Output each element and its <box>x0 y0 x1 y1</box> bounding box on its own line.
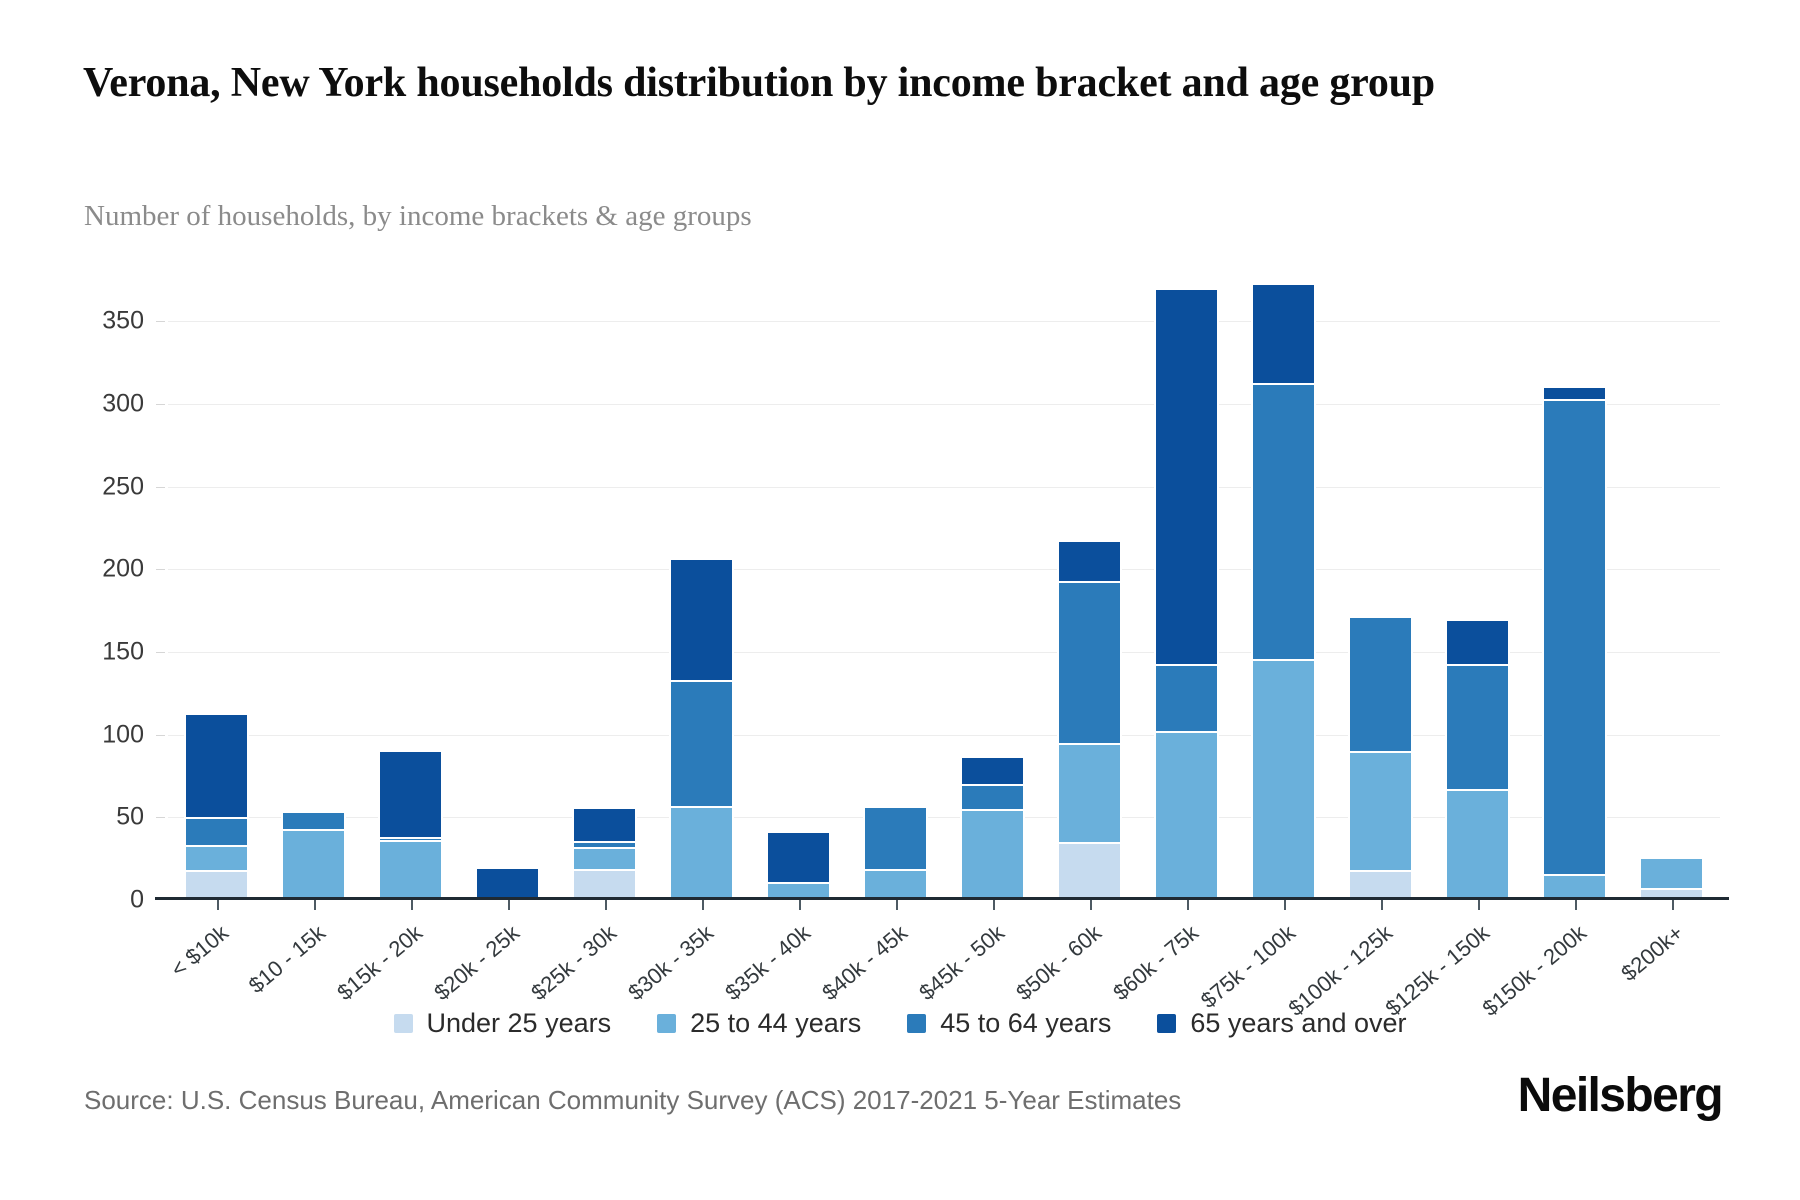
y-axis-tick-label: 150 <box>102 638 144 667</box>
bar-segment[interactable] <box>1445 789 1509 900</box>
bar-series-container: < $10k$10 - 15k$15k - 20k$20k - 25k$25k … <box>168 280 1720 900</box>
bar-stack[interactable] <box>378 280 442 900</box>
bar-group[interactable]: $30k - 35k <box>653 280 750 900</box>
bar-group[interactable]: $125k - 150k <box>1429 280 1526 900</box>
chart-subtitle: Number of households, by income brackets… <box>84 200 752 233</box>
bar-segment[interactable] <box>572 841 636 848</box>
x-tick-mark <box>799 900 801 910</box>
y-axis-tick-label: 0 <box>130 886 144 915</box>
bar-segment[interactable] <box>863 806 927 869</box>
legend-label: 25 to 44 years <box>690 1008 861 1039</box>
bar-segment[interactable] <box>863 869 927 900</box>
bar-group[interactable]: $25k - 30k <box>556 280 653 900</box>
bar-segment[interactable] <box>1445 619 1509 664</box>
x-tick-mark <box>896 900 898 910</box>
x-axis-tick-label: < $10k <box>165 920 233 983</box>
bar-segment[interactable] <box>281 811 345 829</box>
bar-group[interactable]: < $10k <box>168 280 265 900</box>
x-axis-tick-label: $30k - 35k <box>623 920 718 1006</box>
plot-area: 050100150200250300350 < $10k$10 - 15k$15… <box>168 280 1720 900</box>
x-tick-mark <box>1672 900 1674 910</box>
bar-stack[interactable] <box>960 280 1024 900</box>
legend-item[interactable]: 25 to 44 years <box>657 1008 861 1039</box>
legend-swatch-icon <box>394 1014 413 1033</box>
y-axis-tick-label: 200 <box>102 555 144 584</box>
y-axis-tick-label: 300 <box>102 390 144 419</box>
x-axis-tick-label: $50k - 60k <box>1011 920 1106 1006</box>
x-tick-mark <box>1381 900 1383 910</box>
bar-segment[interactable] <box>1057 581 1121 743</box>
bar-group[interactable]: $200k+ <box>1623 280 1720 900</box>
legend-label: 65 years and over <box>1190 1008 1406 1039</box>
bar-segment[interactable] <box>572 807 636 840</box>
x-axis-tick-label: $60k - 75k <box>1108 920 1203 1006</box>
x-axis-tick-label: $15k - 20k <box>332 920 427 1006</box>
bar-segment[interactable] <box>1542 386 1606 399</box>
y-tick-mark <box>156 569 165 570</box>
bar-segment[interactable] <box>1251 659 1315 900</box>
bar-segment[interactable] <box>960 809 1024 900</box>
x-axis-tick-label: $40k - 45k <box>817 920 912 1006</box>
bar-segment[interactable] <box>1348 616 1412 752</box>
y-tick-mark <box>156 652 165 653</box>
bar-group[interactable]: $75k - 100k <box>1235 280 1332 900</box>
bar-segment[interactable] <box>184 713 248 817</box>
bar-stack[interactable] <box>281 280 345 900</box>
bar-stack[interactable] <box>766 280 830 900</box>
bar-segment[interactable] <box>960 784 1024 809</box>
x-tick-mark <box>1187 900 1189 910</box>
x-tick-mark <box>1090 900 1092 910</box>
bar-stack[interactable] <box>863 280 927 900</box>
y-axis-tick-label: 50 <box>116 803 144 832</box>
bar-group[interactable]: $45k - 50k <box>944 280 1041 900</box>
bar-group[interactable]: $20k - 25k <box>459 280 556 900</box>
x-axis-tick-label: $100k - 125k <box>1283 920 1397 1022</box>
x-tick-mark <box>702 900 704 910</box>
x-tick-mark <box>1478 900 1480 910</box>
bar-group[interactable]: $40k - 45k <box>847 280 944 900</box>
bar-stack[interactable] <box>669 280 733 900</box>
x-tick-mark <box>314 900 316 910</box>
y-axis-tick-label: 250 <box>102 472 144 501</box>
x-tick-mark <box>217 900 219 910</box>
x-axis-tick-label: $25k - 30k <box>526 920 621 1006</box>
bar-stack[interactable] <box>572 280 636 900</box>
bar-group[interactable]: $150k - 200k <box>1526 280 1623 900</box>
bar-segment[interactable] <box>669 558 733 680</box>
bar-segment[interactable] <box>1251 383 1315 659</box>
brand-logo: Neilsberg <box>1518 1068 1722 1123</box>
chart-card: Verona, New York households distribution… <box>0 0 1800 1200</box>
bar-stack[interactable] <box>475 280 539 900</box>
bar-segment[interactable] <box>1057 842 1121 900</box>
x-axis-tick-label: $45k - 50k <box>914 920 1009 1006</box>
bar-segment[interactable] <box>1154 288 1218 663</box>
bar-segment[interactable] <box>572 869 636 900</box>
bar-stack[interactable] <box>1639 280 1703 900</box>
legend-swatch-icon <box>907 1014 926 1033</box>
bar-stack[interactable] <box>184 280 248 900</box>
bar-segment[interactable] <box>766 831 830 882</box>
bar-group[interactable]: $35k - 40k <box>750 280 847 900</box>
bar-segment[interactable] <box>1154 731 1218 900</box>
bar-group[interactable]: $15k - 20k <box>362 280 459 900</box>
bar-segment[interactable] <box>1057 743 1121 842</box>
bar-segment[interactable] <box>669 806 733 900</box>
x-tick-mark <box>508 900 510 910</box>
legend-item[interactable]: 65 years and over <box>1157 1008 1406 1039</box>
bar-stack[interactable] <box>1348 280 1412 900</box>
y-tick-mark <box>156 487 165 488</box>
bar-group[interactable]: $60k - 75k <box>1138 280 1235 900</box>
y-axis-tick-label: 350 <box>102 307 144 336</box>
bar-stack[interactable] <box>1542 280 1606 900</box>
legend-swatch-icon <box>1157 1014 1176 1033</box>
bar-stack[interactable] <box>1057 280 1121 900</box>
x-tick-mark <box>993 900 995 910</box>
legend-swatch-icon <box>657 1014 676 1033</box>
y-tick-mark <box>156 817 165 818</box>
bar-segment[interactable] <box>572 847 636 868</box>
x-axis-tick-label: $20k - 25k <box>429 920 524 1006</box>
x-axis-line <box>155 897 1729 900</box>
source-note: Source: U.S. Census Bureau, American Com… <box>84 1085 1181 1116</box>
bar-segment[interactable] <box>1639 857 1703 888</box>
x-tick-mark <box>411 900 413 910</box>
bar-segment[interactable] <box>184 870 248 900</box>
x-tick-mark <box>605 900 607 910</box>
bar-segment[interactable] <box>1542 399 1606 874</box>
legend-label: Under 25 years <box>427 1008 612 1039</box>
bar-segment[interactable] <box>1251 283 1315 382</box>
bar-segment[interactable] <box>184 817 248 845</box>
x-axis-tick-label: $125k - 150k <box>1380 920 1494 1022</box>
bar-segment[interactable] <box>1348 870 1412 900</box>
bar-segment[interactable] <box>1445 664 1509 790</box>
x-axis-tick-label: $10 - 15k <box>243 920 330 999</box>
x-tick-mark <box>1284 900 1286 910</box>
x-axis-tick-label: $150k - 200k <box>1477 920 1591 1022</box>
bar-segment[interactable] <box>184 845 248 870</box>
page-title: Verona, New York households distribution… <box>83 55 1723 113</box>
bar-segment[interactable] <box>378 750 442 838</box>
x-axis-tick-label: $200k+ <box>1616 920 1688 987</box>
bar-group[interactable]: $50k - 60k <box>1041 280 1138 900</box>
y-tick-mark <box>156 321 165 322</box>
bar-segment[interactable] <box>960 756 1024 784</box>
bar-segment[interactable] <box>1057 540 1121 581</box>
bar-stack[interactable] <box>1154 280 1218 900</box>
bar-stack[interactable] <box>1251 280 1315 900</box>
legend-label: 45 to 64 years <box>940 1008 1111 1039</box>
bar-stack[interactable] <box>1445 280 1509 900</box>
bar-segment[interactable] <box>475 867 539 900</box>
bar-segment[interactable] <box>281 829 345 900</box>
chart-legend: Under 25 years25 to 44 years45 to 64 yea… <box>0 1008 1800 1039</box>
x-axis-tick-label: $35k - 40k <box>720 920 815 1006</box>
bar-group[interactable]: $10 - 15k <box>265 280 362 900</box>
bar-segment[interactable] <box>378 840 442 900</box>
y-tick-mark <box>156 735 165 736</box>
legend-item[interactable]: Under 25 years <box>394 1008 612 1039</box>
bar-segment[interactable] <box>1348 751 1412 870</box>
bar-segment[interactable] <box>1154 664 1218 732</box>
y-axis-tick-label: 100 <box>102 720 144 749</box>
y-tick-mark <box>156 404 165 405</box>
legend-item[interactable]: 45 to 64 years <box>907 1008 1111 1039</box>
x-tick-mark <box>1575 900 1577 910</box>
bar-group[interactable]: $100k - 125k <box>1332 280 1429 900</box>
bar-segment[interactable] <box>669 680 733 806</box>
